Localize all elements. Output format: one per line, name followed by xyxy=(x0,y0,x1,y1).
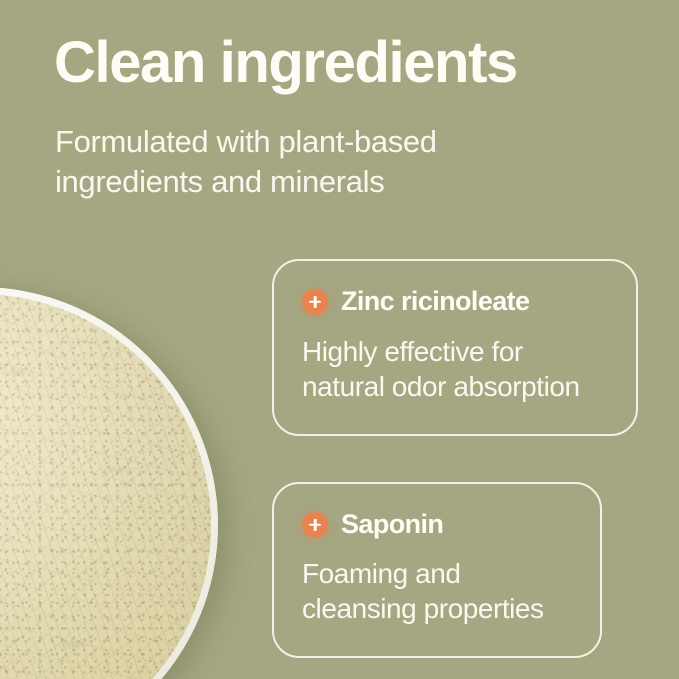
page-subtitle: Formulated with plant-based ingredients … xyxy=(55,122,437,202)
ingredient-description-line-1: Foaming and xyxy=(302,556,572,591)
ingredient-card-header: Zinc ricinoleate xyxy=(302,287,608,317)
powder-shading-layer xyxy=(0,294,211,679)
ingredient-title: Saponin xyxy=(341,510,443,540)
powder-dish-image xyxy=(0,287,218,679)
ingredient-card-header: Saponin xyxy=(302,510,572,540)
ingredient-description: Foaming and cleansing properties xyxy=(302,556,572,626)
ingredient-description-line-2: cleansing properties xyxy=(302,591,572,626)
ingredient-description: Highly effective for natural odor absorp… xyxy=(302,334,608,404)
plus-icon xyxy=(302,512,328,538)
ingredient-card-saponin[interactable]: Saponin Foaming and cleansing properties xyxy=(272,482,602,659)
marketing-panel: Clean ingredients Formulated with plant-… xyxy=(0,0,679,679)
ingredient-description-line-2: natural odor absorption xyxy=(302,369,608,404)
ingredient-card-list: Zinc ricinoleate Highly effective for na… xyxy=(272,259,640,658)
page-title: Clean ingredients xyxy=(54,32,517,93)
ingredient-title: Zinc ricinoleate xyxy=(341,287,529,317)
ingredient-description-line-1: Highly effective for xyxy=(302,334,608,369)
powder-surface xyxy=(0,294,211,679)
ingredient-card-zinc-ricinoleate[interactable]: Zinc ricinoleate Highly effective for na… xyxy=(272,259,638,436)
plus-icon xyxy=(302,289,328,315)
page-subtitle-line-2: ingredients and minerals xyxy=(55,162,437,202)
page-subtitle-line-1: Formulated with plant-based xyxy=(55,122,437,162)
